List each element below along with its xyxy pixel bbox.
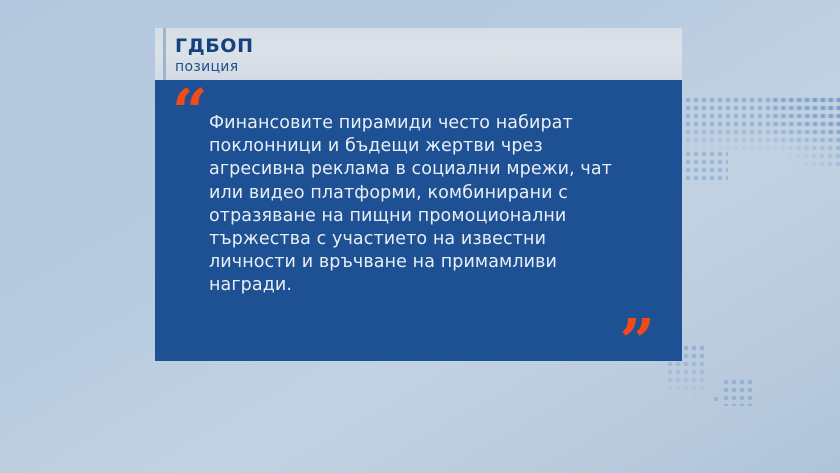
card-header: ГДБОП позиция: [155, 28, 682, 80]
broadcast-graphic-stage: ГДБОП позиция “ Финансовите пирамиди чес…: [0, 0, 840, 473]
dot-pattern-top-left-icon: [668, 96, 840, 152]
dot-pattern-top-right-icon: [770, 96, 840, 166]
quote-card: ГДБОП позиция “ Финансовите пирамиди чес…: [155, 28, 682, 361]
dot-pattern-bottom-stray-icon: [712, 395, 722, 405]
page-subtitle: позиция: [175, 58, 682, 77]
dot-pattern-bottom-right-icon: [722, 378, 752, 406]
quote-text: Финансовите пирамиди често набират покло…: [209, 112, 655, 298]
quote-open-icon: “: [172, 81, 207, 143]
quote-close-icon: ”: [619, 311, 654, 373]
page-title: ГДБОП: [175, 35, 682, 58]
header-accent-bar: [163, 28, 166, 80]
quote-body: “ Финансовите пирамиди често набират пок…: [155, 80, 682, 361]
